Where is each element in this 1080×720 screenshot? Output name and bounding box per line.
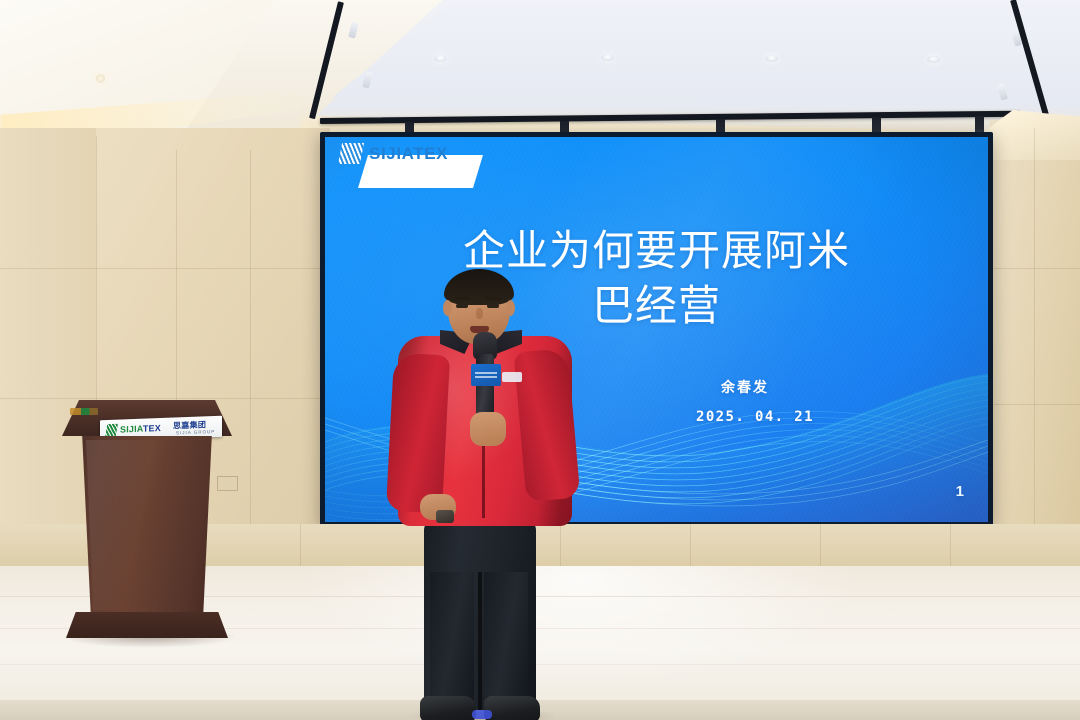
podium: SIJIATEX 思嘉集团 SIJIA GROUP bbox=[58, 400, 236, 650]
speaker-eyebrow-left bbox=[455, 297, 470, 300]
speaker-shoe-accent bbox=[472, 710, 492, 719]
slide-date: 2025. 04. 21 bbox=[655, 409, 855, 425]
wall-panel-seam bbox=[0, 268, 320, 269]
podium-brand-part-b: TEX bbox=[143, 423, 161, 434]
ceiling-downlight-icon bbox=[96, 74, 105, 83]
wall-panel-seam bbox=[820, 524, 821, 570]
speaker-ear-left bbox=[443, 300, 452, 316]
wall-panel-seam bbox=[0, 398, 320, 399]
speaker-chest-badge bbox=[502, 372, 522, 382]
podium-body-sheen bbox=[80, 440, 200, 610]
podium-small-decal bbox=[70, 408, 98, 415]
wall-panel-seam bbox=[690, 524, 691, 570]
slide-presenter-name: 余春发 bbox=[655, 377, 835, 397]
wall-panel-seam bbox=[950, 524, 951, 570]
speaker-leg-gap bbox=[478, 572, 482, 710]
slide-page-number: 1 bbox=[956, 483, 964, 500]
podium-brand-text: SIJIATEX bbox=[120, 423, 161, 435]
microphone-flag-logo bbox=[471, 364, 501, 386]
slide-title-line-1: 企业为何要开展阿米 bbox=[463, 226, 850, 275]
podium-brand-english: SIJIA GROUP bbox=[176, 429, 215, 436]
podium-base bbox=[66, 612, 228, 638]
right-wall bbox=[990, 120, 1080, 570]
speaker-hand-holding-microphone bbox=[470, 412, 506, 446]
logo-stripes-icon bbox=[338, 143, 364, 164]
speaker-shoe-right bbox=[484, 696, 540, 720]
speaker-eye-right bbox=[487, 304, 499, 308]
speaker-shoe-left bbox=[420, 696, 476, 720]
speaker-ear-right bbox=[506, 300, 515, 316]
conference-room-scene: SIJIATEX 企业为何要开展阿米 巴经营 余春发 2025. 04. 21 … bbox=[0, 0, 1080, 720]
wall-panel-seam bbox=[994, 404, 1080, 405]
recessed-light-icon bbox=[765, 55, 778, 62]
speaker-leg-right bbox=[484, 572, 528, 714]
recessed-light-icon bbox=[927, 56, 940, 63]
recessed-light-icon bbox=[601, 54, 614, 61]
speaker-person bbox=[392, 272, 578, 720]
speaker-eyebrow-right bbox=[486, 297, 501, 300]
wall-panel-seam bbox=[1034, 128, 1035, 568]
wall-panel-seam bbox=[300, 524, 301, 570]
logo-text: SIJIATEX bbox=[369, 144, 448, 164]
floor-light-reflection bbox=[300, 566, 860, 686]
wall-panel-seam bbox=[994, 268, 1080, 269]
recessed-light-icon bbox=[434, 55, 447, 62]
podium-brand-part-a: SIJIA bbox=[120, 424, 143, 435]
speaker-eye-left bbox=[456, 304, 468, 308]
presentation-clicker bbox=[436, 510, 454, 523]
speaker-arm-left bbox=[386, 353, 450, 514]
speaker-nose bbox=[476, 308, 483, 319]
wall-panel-seam bbox=[250, 150, 251, 566]
podium-logo-mark-icon bbox=[105, 424, 118, 437]
speaker-leg-left bbox=[430, 572, 474, 714]
